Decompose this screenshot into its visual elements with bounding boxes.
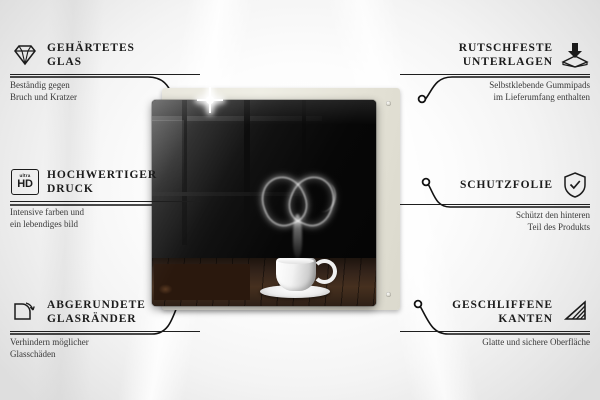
screw-hole-top-right	[386, 101, 391, 106]
coffee-cup	[276, 258, 316, 291]
feature-head: GESCHLIFFENE KANTEN	[400, 297, 590, 327]
feature-divider	[10, 74, 200, 75]
feature-divider	[400, 204, 590, 205]
feature-head: RUTSCHFESTE UNTERLAGEN	[400, 40, 590, 70]
feature-title-line2: DRUCK	[47, 182, 157, 197]
feature-desc-line1: Beständig gegen	[10, 80, 200, 92]
feature-title: RUTSCHFESTE UNTERLAGEN	[459, 41, 553, 70]
feature-desc-line1: Verhindern möglicher	[10, 337, 200, 349]
feature-title-line1: ABGERUNDETE	[47, 298, 146, 313]
hd-badge-hd-label: HD	[17, 179, 33, 190]
feature-head: ABGERUNDETE GLASRÄNDER	[10, 297, 200, 327]
feature-description: Verhindern möglicher Glasschäden	[10, 337, 200, 360]
feature-desc-line1: Intensive farben und	[10, 207, 200, 219]
feature-desc-line2: im Lieferumfang enthalten	[400, 92, 590, 104]
heart-shaped-steam	[260, 174, 336, 260]
feature-head: GEHÄRTETES GLAS	[10, 40, 200, 70]
feature-description: Beständig gegen Bruch und Kratzer	[10, 80, 200, 103]
feature-title-line2: KANTEN	[452, 312, 553, 327]
feature-desc-line2: Bruch und Kratzer	[10, 92, 200, 104]
feature-title-line2: UNTERLAGEN	[459, 55, 553, 70]
feature-title-line2: GLAS	[47, 55, 135, 70]
feature-head: SCHUTZFOLIE	[400, 170, 590, 200]
feature-desc-line1: Glatte und sichere Oberfläche	[400, 337, 590, 349]
feature-gehaertetes-glas: GEHÄRTETES GLAS Beständig gegen Bruch un…	[10, 40, 200, 103]
feature-title: GESCHLIFFENE KANTEN	[452, 298, 553, 327]
feature-geschliffene-kanten: GESCHLIFFENE KANTEN Glatte und sichere O…	[400, 297, 590, 349]
feature-desc-line1: Selbstklebende Gummipads	[400, 80, 590, 92]
steam-stem	[293, 214, 302, 258]
feature-description: Selbstklebende Gummipads im Lieferumfang…	[400, 80, 590, 103]
feature-desc-line2: Teil des Produkts	[400, 222, 590, 234]
feature-desc-line2: Glasschäden	[10, 349, 200, 361]
feature-description: Intensive farben und ein lebendiges bild	[10, 207, 200, 230]
infographic-canvas: GEHÄRTETES GLAS Beständig gegen Bruch un…	[0, 0, 600, 400]
feature-title-line1: SCHUTZFOLIE	[460, 178, 553, 193]
window-frame-vertical-2	[244, 100, 250, 245]
polished-edge-icon	[560, 297, 590, 327]
coffee-beans	[154, 264, 250, 300]
shield-check-icon	[560, 170, 590, 200]
hd-badge: ultra HD	[11, 169, 39, 195]
feature-divider	[10, 331, 200, 332]
feature-schutzfolie: SCHUTZFOLIE Schützt den hinteren Teil de…	[400, 170, 590, 233]
feature-description: Glatte und sichere Oberfläche	[400, 337, 590, 349]
feature-title-line1: HOCHWERTIGER	[47, 168, 157, 183]
feature-desc-line2: ein lebendiges bild	[10, 219, 200, 231]
diamond-icon	[10, 40, 40, 70]
feature-divider	[400, 74, 590, 75]
feature-title-line2: GLASRÄNDER	[47, 312, 146, 327]
feature-divider	[10, 201, 200, 202]
pad-with-down-arrow-icon	[560, 40, 590, 70]
feature-title-line1: GEHÄRTETES	[47, 41, 135, 56]
screw-hole-bottom-right	[386, 292, 391, 297]
feature-rutschfeste-unterlagen: RUTSCHFESTE UNTERLAGEN Selbstklebende Gu…	[400, 40, 590, 103]
feature-title: GEHÄRTETES GLAS	[47, 41, 135, 70]
steam-wisp	[309, 180, 339, 214]
feature-title: ABGERUNDETE GLASRÄNDER	[47, 298, 146, 327]
feature-divider	[400, 331, 590, 332]
feature-title: HOCHWERTIGER DRUCK	[47, 168, 157, 197]
feature-title-line1: RUTSCHFESTE	[459, 41, 553, 56]
feature-desc-line1: Schützt den hinteren	[400, 210, 590, 222]
feature-description: Schützt den hinteren Teil des Produkts	[400, 210, 590, 233]
feature-abgerundete-glasraender: ABGERUNDETE GLASRÄNDER Verhindern möglic…	[10, 297, 200, 360]
rounded-corner-icon	[10, 297, 40, 327]
feature-head: ultra HD HOCHWERTIGER DRUCK	[10, 167, 200, 197]
ultra-hd-icon: ultra HD	[10, 167, 40, 197]
feature-hochwertiger-druck: ultra HD HOCHWERTIGER DRUCK Intensive fa…	[10, 167, 200, 230]
feature-title: SCHUTZFOLIE	[460, 178, 553, 193]
feature-title-line1: GESCHLIFFENE	[452, 298, 553, 313]
